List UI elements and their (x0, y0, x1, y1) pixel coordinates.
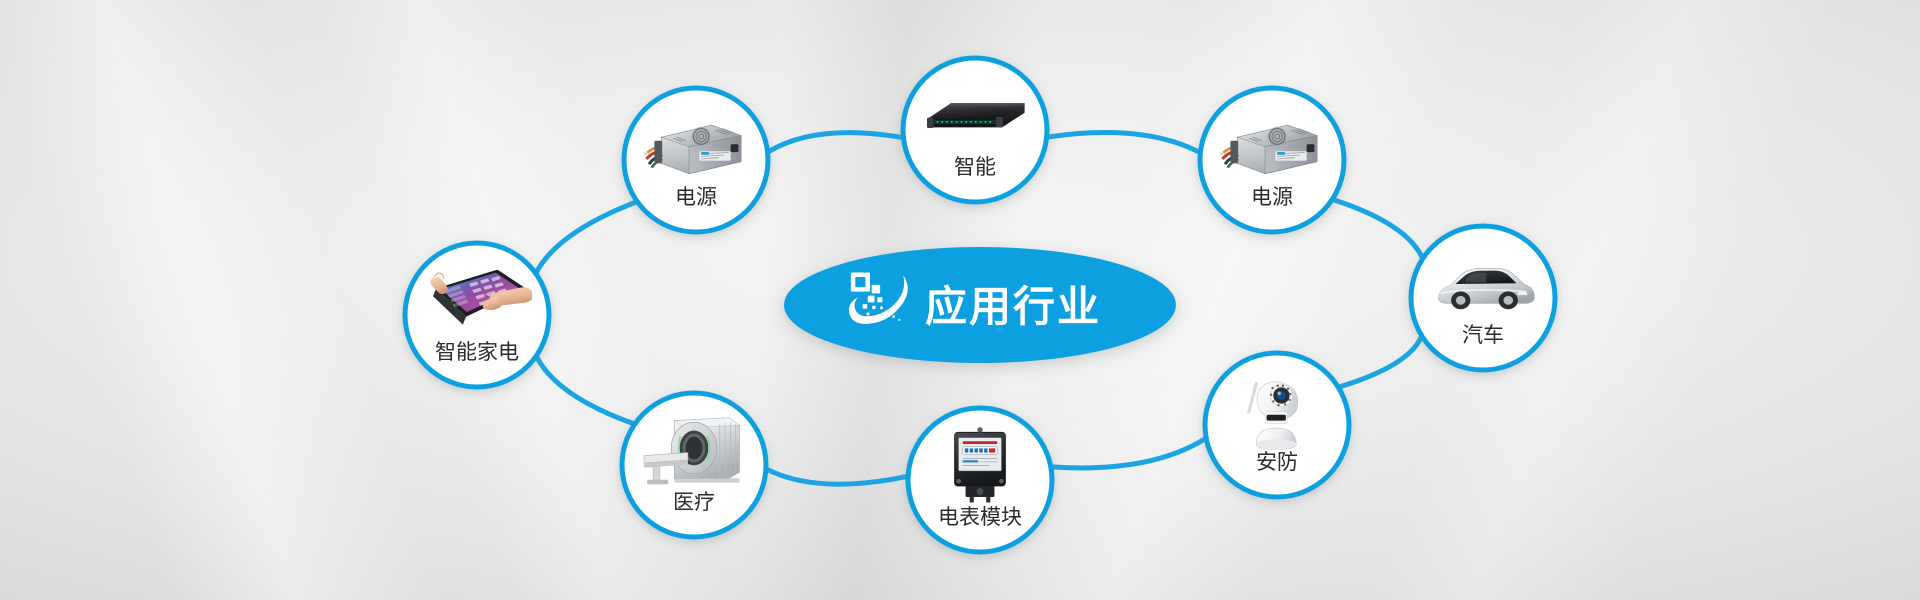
connector-smart-home-to-power-left (536, 202, 637, 274)
connector-smart-to-power-right (1047, 132, 1201, 152)
node-label-power-right: 电源 (1251, 186, 1293, 209)
node-label-smart: 智能 (954, 156, 996, 179)
node-medical[interactable]: 医疗 (622, 393, 766, 537)
node-label-meter: 电表模块 (938, 506, 1022, 529)
connector-medical-to-smart-home (536, 356, 635, 424)
connector-automotive-to-security (1338, 336, 1421, 387)
connector-meter-to-medical (766, 469, 908, 484)
application-industries-diagram: 电源智能电源汽车安防电表模块医疗智能家电 应用行业 (0, 0, 1920, 600)
node-label-security: 安防 (1256, 451, 1298, 474)
node-label-automotive: 汽车 (1462, 324, 1504, 347)
node-smart[interactable]: 智能 (903, 58, 1047, 202)
node-power-left[interactable]: 电源 (624, 88, 768, 232)
node-circle (1205, 353, 1349, 497)
node-automotive[interactable]: 汽车 (1411, 226, 1555, 370)
connector-power-right-to-automotive (1332, 199, 1422, 258)
diagram-canvas: 电源智能电源汽车安防电表模块医疗智能家电 应用行业 (0, 0, 1920, 600)
node-label-power-left: 电源 (675, 186, 717, 209)
node-smart-home[interactable]: 智能家电 (405, 243, 549, 387)
node-label-medical: 医疗 (673, 491, 715, 514)
connector-power-left-to-smart (768, 133, 904, 153)
node-circle (405, 243, 549, 387)
hub-application-industries[interactable]: 应用行业 (784, 247, 1176, 363)
node-security[interactable]: 安防 (1205, 353, 1349, 497)
hub-label: 应用行业 (925, 283, 1101, 330)
node-circle (903, 58, 1047, 202)
node-label-smart-home: 智能家电 (435, 341, 519, 364)
connector-security-to-meter (1051, 438, 1206, 468)
node-power-right[interactable]: 电源 (1200, 88, 1344, 232)
node-meter[interactable]: 电表模块 (908, 408, 1052, 552)
